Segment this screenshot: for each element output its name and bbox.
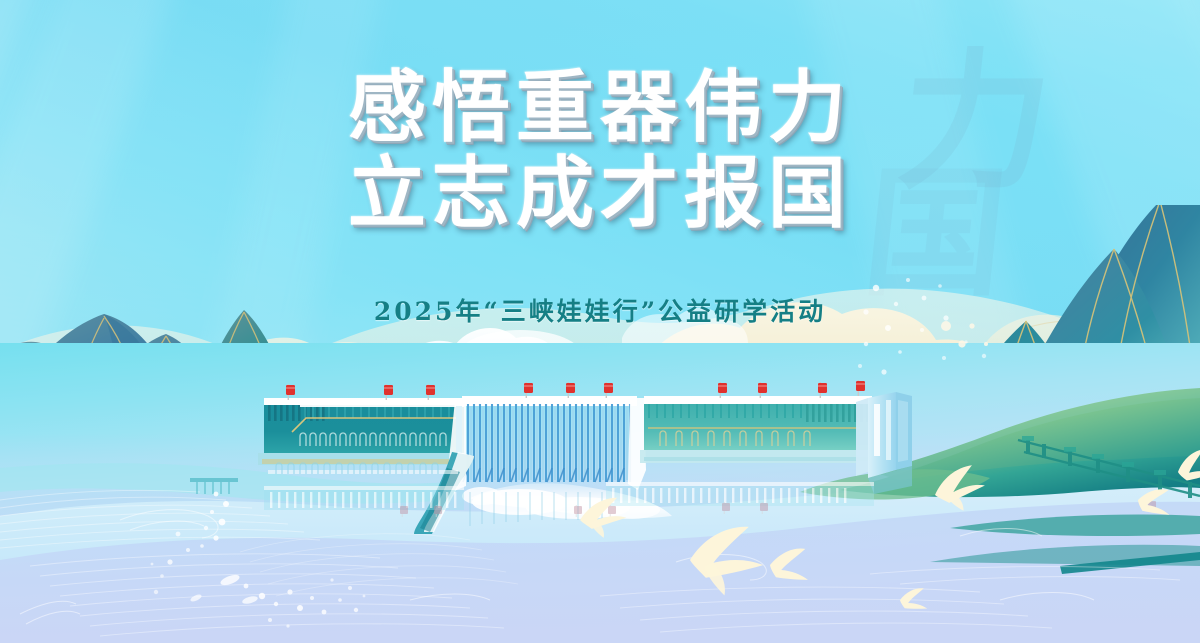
subtitle-text: 2025年“三峡娃娃行”公益研学活动	[0, 292, 1200, 328]
banner-root: 力 国	[0, 0, 1200, 643]
flying-swallow	[578, 448, 1200, 611]
